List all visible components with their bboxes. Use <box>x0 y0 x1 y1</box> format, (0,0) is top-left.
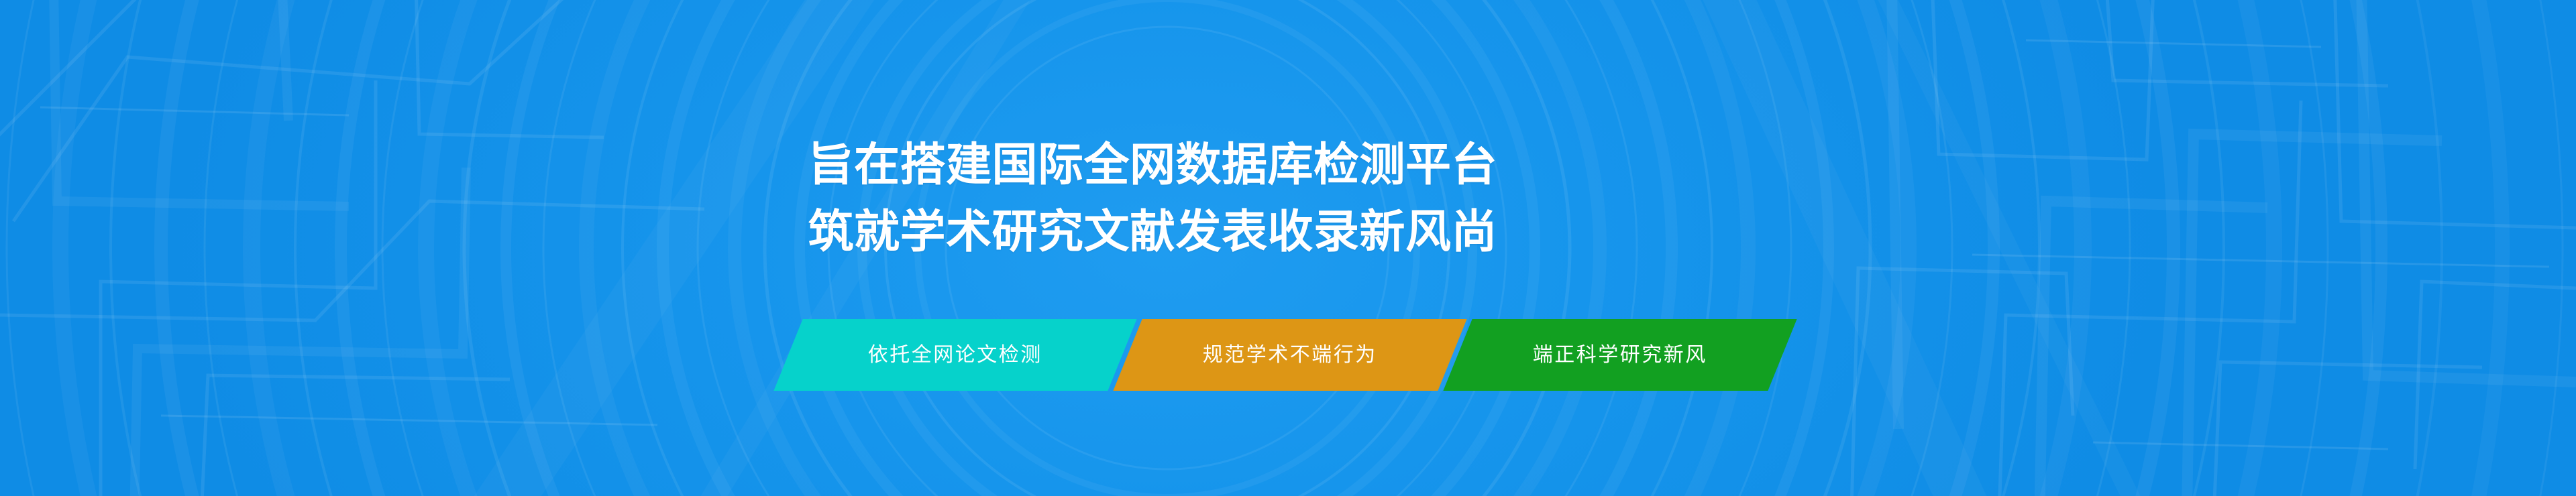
promotional-banner: 旨在搭建国际全网数据库检测平台 筑就学术研究文献发表收录新风尚 依托全网论文检测… <box>0 0 2576 496</box>
feature-tag-1-label: 依托全网论文检测 <box>868 345 1042 365</box>
feature-tag-3-label: 端正科学研究新风 <box>1533 345 1707 365</box>
headline-line-2: 筑就学术研究文献发表收录新风尚 <box>0 198 1497 265</box>
feature-tag-2-label: 规范学术不端行为 <box>1203 345 1377 365</box>
feature-tag-1[interactable]: 依托全网论文检测 <box>773 319 1136 391</box>
feature-tag-3[interactable]: 端正科学研究新风 <box>1443 319 1796 391</box>
feature-tag-strip: 依托全网论文检测 规范学术不端行为 端正科学研究新风 <box>0 319 2576 391</box>
feature-tag-2[interactable]: 规范学术不端行为 <box>1113 319 1466 391</box>
headline-line-1: 旨在搭建国际全网数据库检测平台 <box>0 131 1497 198</box>
headline-block: 旨在搭建国际全网数据库检测平台 筑就学术研究文献发表收录新风尚 <box>0 131 1497 265</box>
